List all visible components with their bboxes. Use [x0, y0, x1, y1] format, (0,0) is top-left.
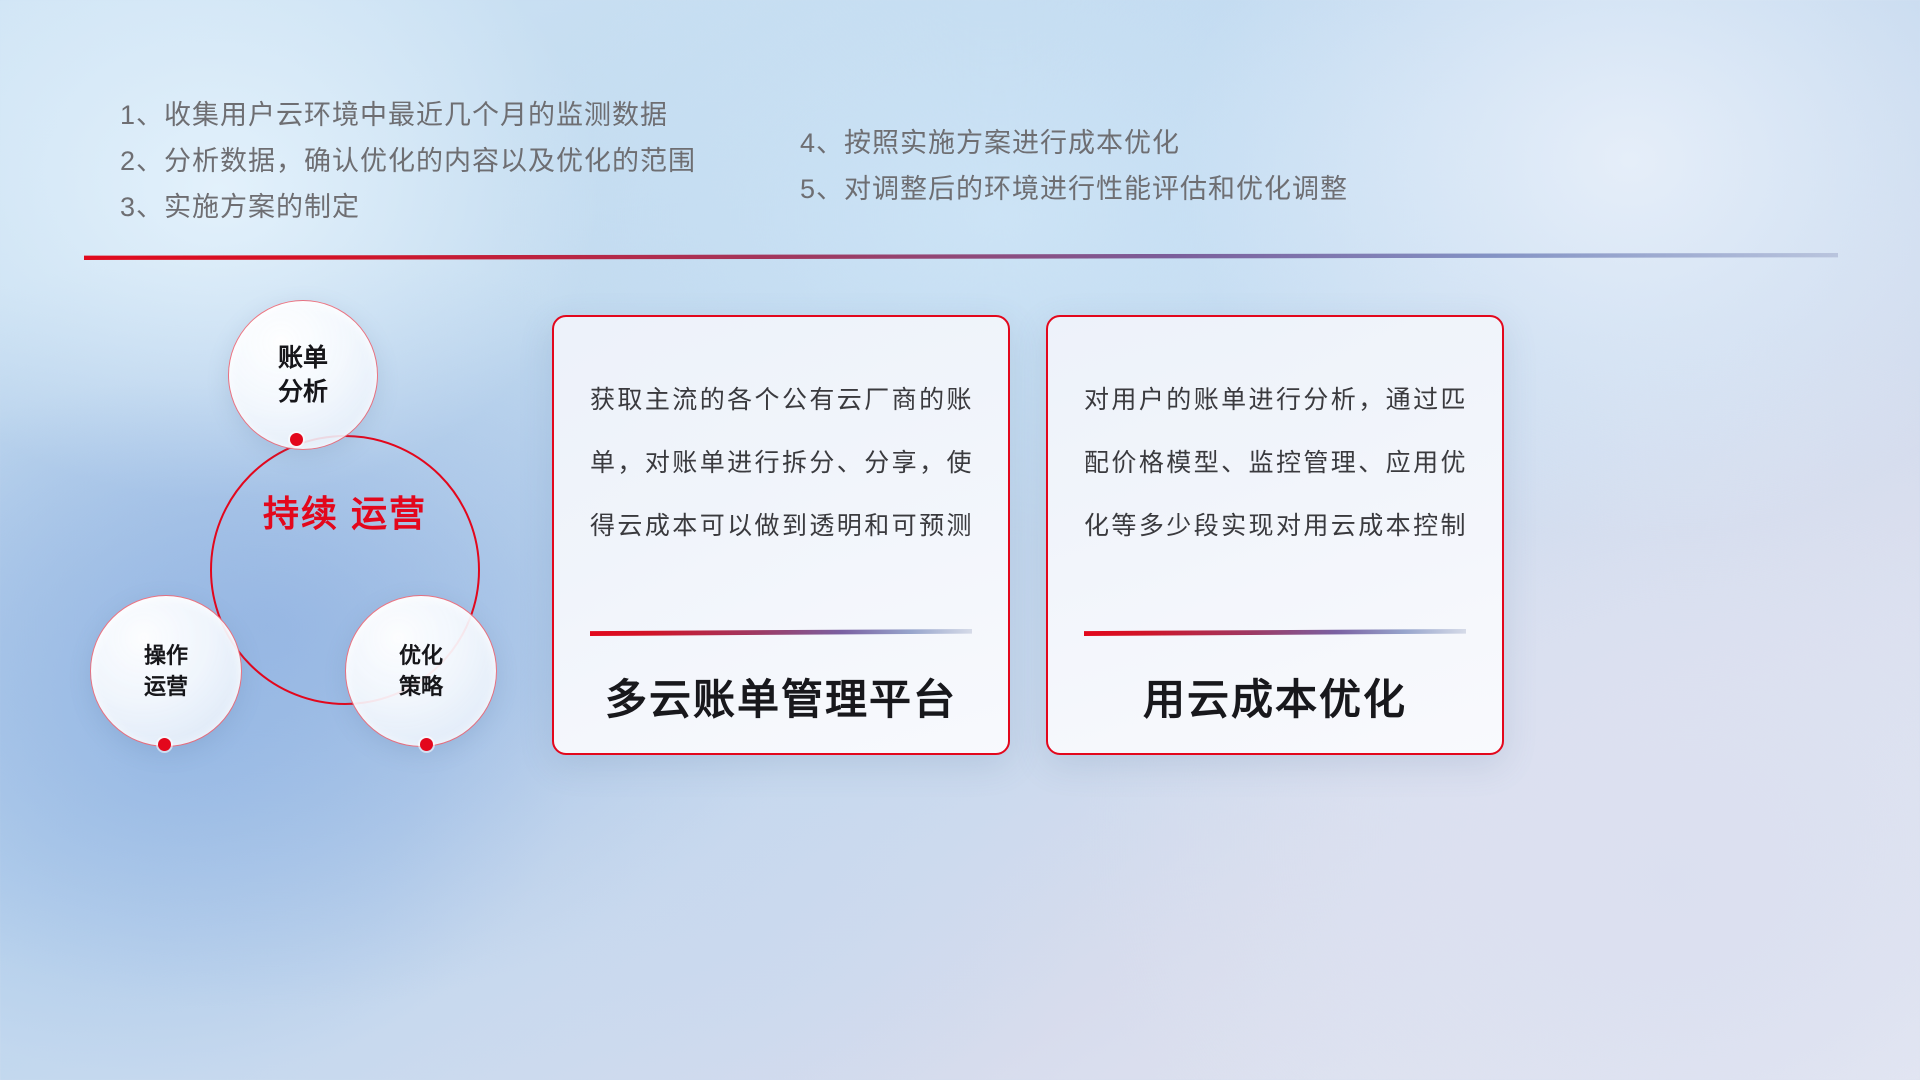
info-card-divider: [1084, 629, 1466, 636]
steps-list-right: 4、按照实施方案进行成本优化 5、对调整后的环境进行性能评估和优化调整: [800, 120, 1580, 212]
diagram-node-dot-right: [420, 738, 433, 751]
step-item-3: 3、实施方案的制定: [120, 184, 840, 230]
info-card-cloud-cost-optimization[interactable]: 对用户的账单进行分析，通过匹配价格模型、监控管理、应用优化等多少段实现对用云成本…: [1046, 315, 1504, 755]
diagram-bubble-bill-analysis[interactable]: 账单 分析: [228, 300, 378, 450]
info-card-body: 获取主流的各个公有云厂商的账单，对账单进行拆分、分享，使得云成本可以做到透明和可…: [590, 369, 972, 558]
bubble-label-line-2: 策略: [399, 671, 443, 702]
bubble-label-line-2: 分析: [278, 375, 328, 409]
diagram-center-label: 持续 运营: [255, 490, 435, 537]
diagram-node-dot-left: [158, 738, 171, 751]
section-divider: [84, 253, 1838, 260]
diagram-node-dot-top: [290, 433, 303, 446]
step-item-5: 5、对调整后的环境进行性能评估和优化调整: [800, 166, 1580, 212]
diagram-center-line-1: 持续: [263, 493, 339, 534]
diagram-bubble-optimization-strategy[interactable]: 优化 策略: [345, 595, 497, 747]
steps-list-left: 1、收集用户云环境中最近几个月的监测数据 2、分析数据，确认优化的内容以及优化的…: [120, 92, 840, 230]
info-card-title: 用云成本优化: [1084, 666, 1466, 727]
diagram-bubble-operations[interactable]: 操作 运营: [90, 595, 242, 747]
diagram-center-line-2: 运营: [351, 493, 427, 534]
info-card-multicloud-billing[interactable]: 获取主流的各个公有云厂商的账单，对账单进行拆分、分享，使得云成本可以做到透明和可…: [552, 315, 1010, 755]
venn-diagram: 持续 运营 账单 分析 操作 运营 优化 策略: [80, 290, 550, 770]
bubble-label-line-1: 操作: [144, 640, 188, 671]
step-item-1: 1、收集用户云环境中最近几个月的监测数据: [120, 92, 840, 138]
bubble-label-line-2: 运营: [144, 671, 188, 702]
bubble-label-line-1: 账单: [278, 341, 328, 375]
info-card-divider: [590, 629, 972, 636]
info-card-title: 多云账单管理平台: [590, 666, 972, 727]
step-item-4: 4、按照实施方案进行成本优化: [800, 120, 1580, 166]
step-item-2: 2、分析数据，确认优化的内容以及优化的范围: [120, 138, 840, 184]
bubble-label-line-1: 优化: [399, 640, 443, 671]
info-card-body: 对用户的账单进行分析，通过匹配价格模型、监控管理、应用优化等多少段实现对用云成本…: [1084, 369, 1466, 558]
